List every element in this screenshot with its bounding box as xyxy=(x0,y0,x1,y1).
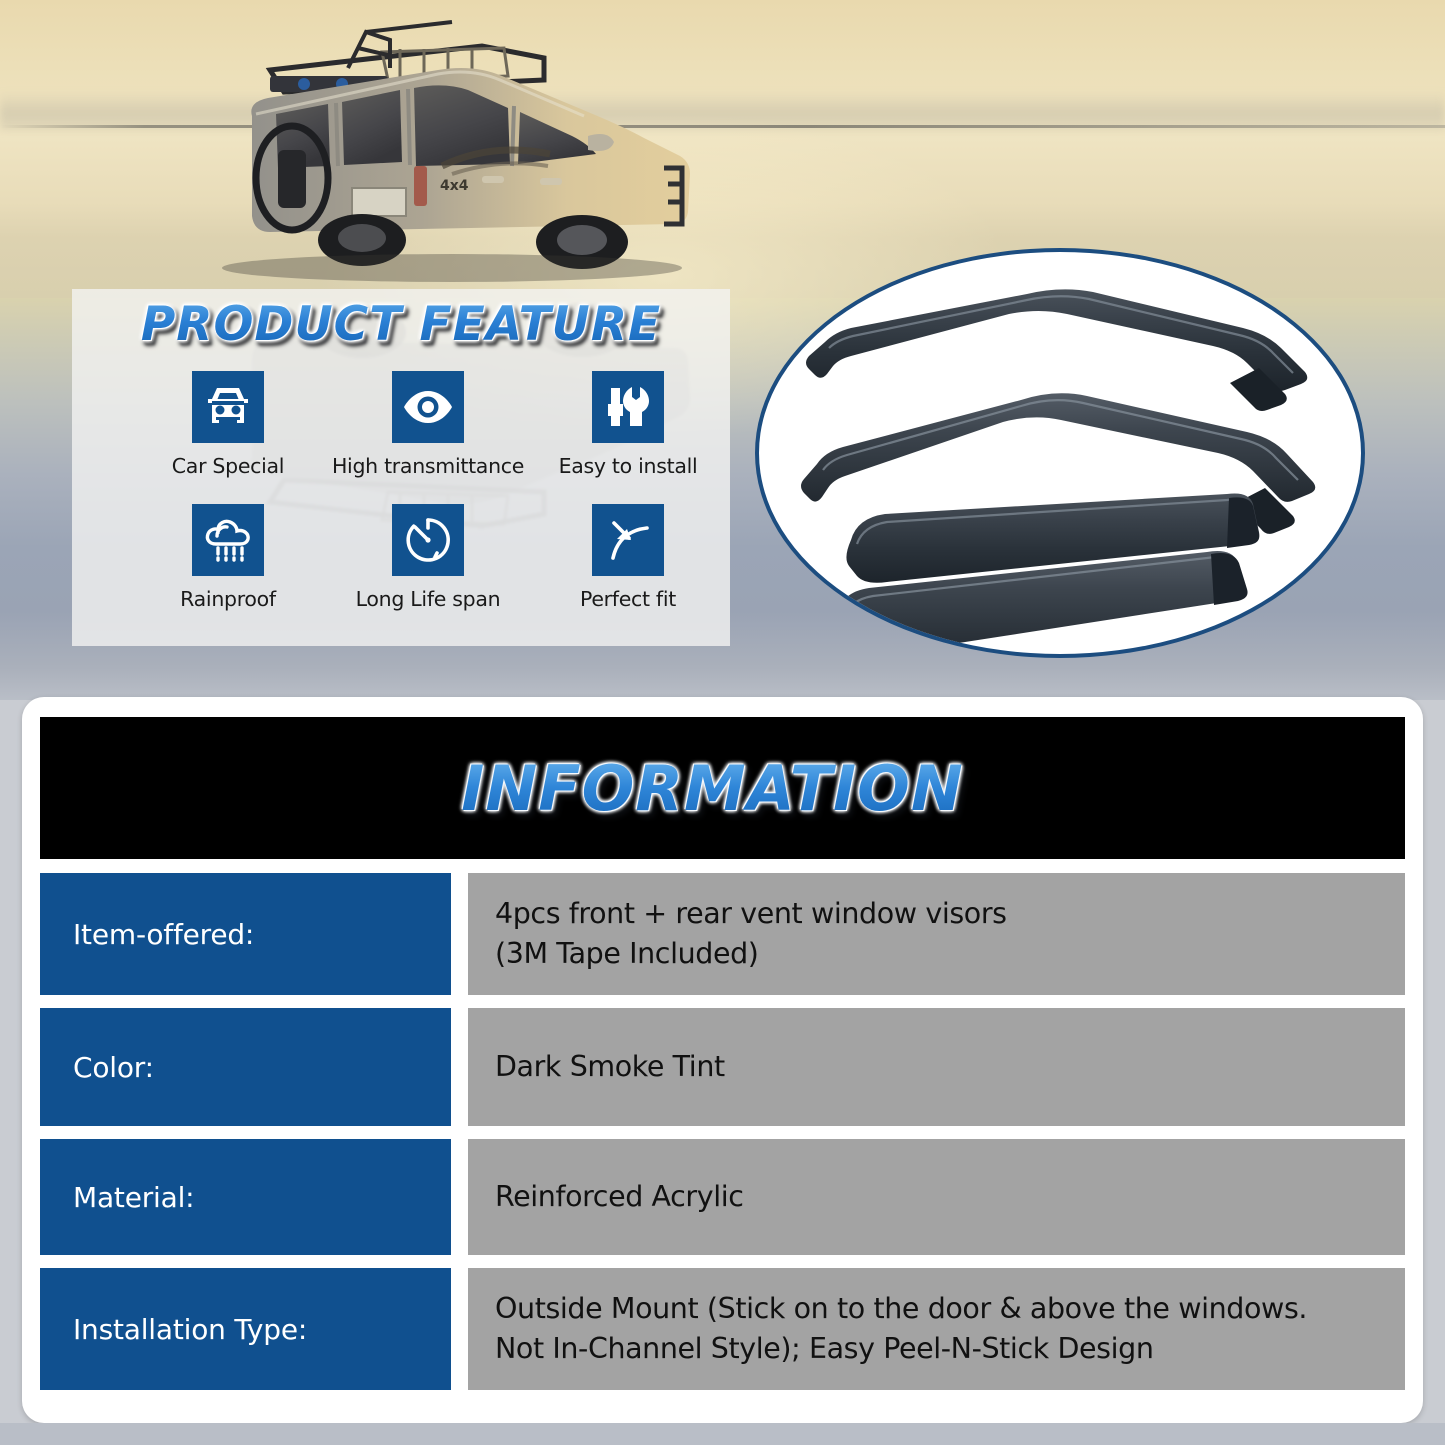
spec-value-line: Dark Smoke Tint xyxy=(495,1047,1387,1087)
stopwatch-icon xyxy=(392,504,464,576)
table-row: Material: Reinforced Acrylic xyxy=(40,1139,1405,1255)
spec-value-line: Reinforced Acrylic xyxy=(495,1177,1387,1217)
spec-value-line: Outside Mount (Stick on to the door & ab… xyxy=(495,1289,1387,1329)
product-infographic: 4x4 xyxy=(0,0,1445,1445)
information-title: INFORMATION xyxy=(461,752,963,825)
specification-table: Item-offered: 4pcs front + rear vent win… xyxy=(40,873,1405,1390)
spec-key-item-offered: Item-offered: xyxy=(40,873,451,995)
information-header: INFORMATION xyxy=(40,717,1405,859)
spec-key-color: Color: xyxy=(40,1008,451,1126)
visor-piece-1 xyxy=(806,289,1307,411)
rain-cloud-icon xyxy=(192,504,264,576)
spec-value-installation-type: Outside Mount (Stick on to the door & ab… xyxy=(468,1268,1405,1390)
spec-key-installation-type: Installation Type: xyxy=(40,1268,451,1390)
feature-item-long-life-span: Long Life span xyxy=(328,504,528,637)
feature-label: Long Life span xyxy=(356,587,501,611)
car-front-icon xyxy=(192,371,264,443)
feature-label: Car Special xyxy=(172,454,284,478)
spec-value-line: (3M Tape Included) xyxy=(495,934,1387,974)
spec-value-material: Reinforced Acrylic xyxy=(468,1139,1405,1255)
feature-label: Perfect fit xyxy=(580,587,676,611)
spec-value-line: 4pcs front + rear vent window visors xyxy=(495,894,1387,934)
feature-grid: Car Special High transmittance xyxy=(128,371,728,637)
feature-item-high-transmittance: High transmittance xyxy=(328,371,528,504)
product-feature-title: PRODUCT FEATURE xyxy=(72,297,730,352)
spec-key-material: Material: xyxy=(40,1139,451,1255)
vent-window-visor-set xyxy=(759,252,1361,654)
table-row: Installation Type: Outside Mount (Stick … xyxy=(40,1268,1405,1390)
spec-value-color: Dark Smoke Tint xyxy=(468,1008,1405,1126)
bottom-strip xyxy=(0,1423,1445,1445)
feature-label: High transmittance xyxy=(332,454,524,478)
svg-text:4x4: 4x4 xyxy=(440,178,469,194)
feature-item-car-special: Car Special xyxy=(128,371,328,504)
information-card: INFORMATION Item-offered: 4pcs front + r… xyxy=(22,697,1423,1423)
eye-icon xyxy=(392,371,464,443)
feature-item-perfect-fit: Perfect fit xyxy=(528,504,728,637)
curve-arrow-icon xyxy=(592,504,664,576)
feature-label: Easy to install xyxy=(559,454,698,478)
product-oval xyxy=(755,248,1365,658)
feature-item-easy-to-install: Easy to install xyxy=(528,371,728,504)
product-feature-panel: PRODUCT FEATURE Car Special xyxy=(72,289,730,646)
tools-icon xyxy=(592,371,664,443)
spec-value-line: Not In-Channel Style); Easy Peel-N-Stick… xyxy=(495,1329,1387,1369)
suv-vehicle: 4x4 xyxy=(152,18,722,286)
spec-value-item-offered: 4pcs front + rear vent window visors (3M… xyxy=(468,873,1405,995)
feature-item-rainproof: Rainproof xyxy=(128,504,328,637)
table-row: Color: Dark Smoke Tint xyxy=(40,1008,1405,1126)
table-row: Item-offered: 4pcs front + rear vent win… xyxy=(40,873,1405,995)
feature-label: Rainproof xyxy=(180,587,276,611)
